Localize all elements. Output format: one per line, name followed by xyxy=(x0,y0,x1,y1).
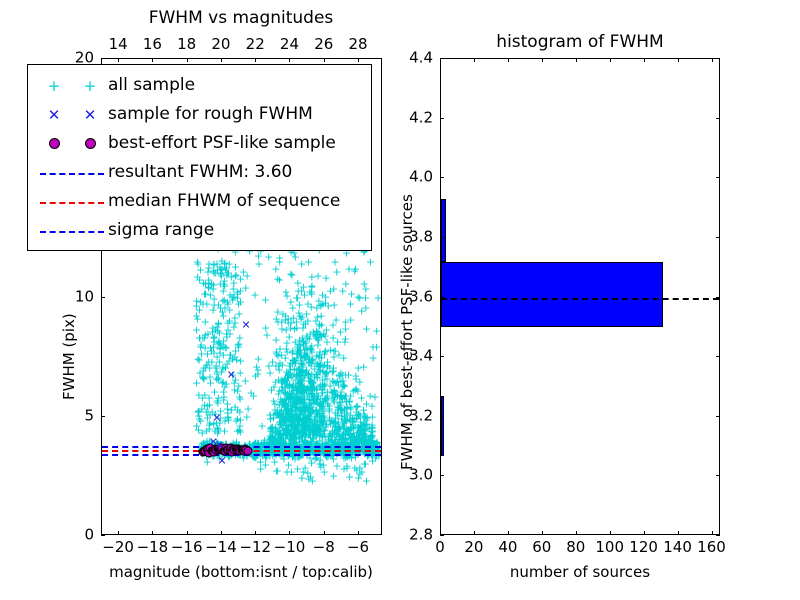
plus-icon: + xyxy=(84,77,97,95)
histogram-top-xtick xyxy=(542,58,543,62)
scatter-point-all-sample: + xyxy=(362,399,371,410)
legend-entry-label: best-effort PSF-like sample xyxy=(108,135,336,152)
scatter-xtick-label: −20 xyxy=(102,540,134,555)
histogram-ytick xyxy=(440,237,444,238)
scatter-point-all-sample: + xyxy=(272,335,281,346)
scatter-xtick-label: −18 xyxy=(137,540,169,555)
scatter-top-xtick xyxy=(187,58,188,62)
scatter-point-all-sample: + xyxy=(297,258,306,269)
scatter-yaxis-label: FWHM (pix) xyxy=(62,313,77,400)
scatter-top-xtick xyxy=(118,58,119,62)
scatter-xtick xyxy=(324,531,325,535)
histogram-xtick-label: 60 xyxy=(532,540,551,555)
scatter-point-all-sample: + xyxy=(229,321,238,332)
scatter-point-all-sample: + xyxy=(299,381,308,392)
histogram-ytick xyxy=(440,118,444,119)
histogram-ytick xyxy=(440,356,444,357)
scatter-ytick-label: 0 xyxy=(84,528,94,543)
histogram-xtick xyxy=(576,531,577,535)
scatter-point-all-sample: + xyxy=(304,430,313,441)
scatter-point-all-sample: + xyxy=(292,293,301,304)
scatter-point-all-sample: + xyxy=(322,272,331,283)
scatter-point-all-sample: + xyxy=(305,286,314,297)
scatter-xtick-label: −12 xyxy=(239,540,271,555)
scatter-point-all-sample: + xyxy=(346,298,355,309)
scatter-point-all-sample: + xyxy=(249,391,258,402)
legend-handle: ++ xyxy=(36,71,108,100)
histogram-axes xyxy=(440,58,720,535)
scatter-top-xtick-label: 26 xyxy=(314,37,333,52)
scatter-point-all-sample: + xyxy=(214,300,223,311)
legend-row: best-effort PSF-like sample xyxy=(36,129,361,158)
histogram-xtick xyxy=(508,531,509,535)
scatter-top-xtick-label: 22 xyxy=(246,37,265,52)
scatter-point-all-sample: + xyxy=(321,393,330,404)
scatter-xtick xyxy=(152,531,153,535)
scatter-point-all-sample: + xyxy=(275,275,284,286)
histogram-ytick-label: 4.0 xyxy=(409,170,433,185)
legend: ++all sample✕✕sample for rough FWHMbest-… xyxy=(27,64,372,251)
scatter-point-all-sample: + xyxy=(329,470,338,481)
scatter-xtick-label: −16 xyxy=(171,540,203,555)
scatter-point-all-sample: + xyxy=(269,381,278,392)
histogram-ytick-right xyxy=(716,237,720,238)
scatter-top-xtick xyxy=(289,58,290,62)
histogram-xaxis-label: number of sources xyxy=(510,565,650,580)
scatter-point-all-sample: + xyxy=(362,415,371,426)
histogram-xtick xyxy=(610,531,611,535)
histogram-ytick xyxy=(440,416,444,417)
scatter-point-all-sample: + xyxy=(283,388,292,399)
legend-row: resultant FWHM: 3.60 xyxy=(36,158,361,187)
histogram-bar xyxy=(441,262,663,328)
histogram-ytick-right xyxy=(716,58,720,59)
legend-entry-label: all sample xyxy=(108,77,195,94)
cross-icon: ✕ xyxy=(84,106,97,124)
scatter-point-all-sample: + xyxy=(264,361,273,372)
histogram-bar xyxy=(441,396,444,456)
scatter-point-all-sample: + xyxy=(314,270,323,281)
scatter-point-all-sample: + xyxy=(347,416,356,427)
scatter-top-xtick-label: 16 xyxy=(143,37,162,52)
scatter-point-all-sample: + xyxy=(202,360,211,371)
histogram-xtick xyxy=(474,531,475,535)
histogram-ytick xyxy=(440,58,444,59)
histogram-xtick-label: 80 xyxy=(566,540,585,555)
scatter-top-xtick-label: 18 xyxy=(177,37,196,52)
legend-row: sigma range xyxy=(36,216,361,245)
histogram-xtick-label: 120 xyxy=(629,540,658,555)
scatter-point-psf-sample xyxy=(243,447,252,456)
scatter-point-all-sample: + xyxy=(256,456,265,467)
scatter-point-all-sample: + xyxy=(330,299,339,310)
scatter-point-all-sample: + xyxy=(199,372,208,383)
scatter-point-all-sample: + xyxy=(298,398,307,409)
legend-handle xyxy=(36,158,108,187)
scatter-point-all-sample: + xyxy=(322,420,331,431)
histogram-bar xyxy=(441,199,446,262)
scatter-top-xtick-label: 24 xyxy=(280,37,299,52)
scatter-point-all-sample: + xyxy=(362,324,371,335)
scatter-point-all-sample: + xyxy=(353,401,362,412)
scatter-point-all-sample: + xyxy=(235,333,244,344)
scatter-point-all-sample: + xyxy=(193,258,202,269)
histogram-xtick xyxy=(712,531,713,535)
scatter-point-all-sample: + xyxy=(209,267,218,278)
scatter-top-xtick xyxy=(152,58,153,62)
scatter-point-all-sample: + xyxy=(346,315,355,326)
dashdot-line-icon xyxy=(40,231,104,233)
scatter-point-all-sample: + xyxy=(273,465,282,476)
scatter-point-all-sample: + xyxy=(284,313,293,324)
histogram-ytick-label: 2.8 xyxy=(409,528,433,543)
histogram-ytick-label: 3.0 xyxy=(409,468,433,483)
scatter-point-all-sample: + xyxy=(306,471,315,482)
scatter-point-all-sample: + xyxy=(282,290,291,301)
scatter-point-all-sample: + xyxy=(272,314,281,325)
scatter-point-all-sample: + xyxy=(340,336,349,347)
scatter-point-all-sample: + xyxy=(194,410,203,421)
histogram-top-xtick xyxy=(474,58,475,62)
scatter-point-all-sample: + xyxy=(272,348,281,359)
cross-icon: ✕ xyxy=(48,106,61,124)
scatter-point-all-sample: + xyxy=(331,422,340,433)
histogram-ytick-label: 3.4 xyxy=(409,349,433,364)
scatter-point-all-sample: + xyxy=(374,292,383,303)
scatter-ytick xyxy=(101,416,105,417)
histogram-top-xtick xyxy=(712,58,713,62)
histogram-ytick-right xyxy=(716,535,720,536)
scatter-point-all-sample: + xyxy=(254,259,263,270)
scatter-point-all-sample: + xyxy=(219,349,228,360)
scatter-point-all-sample: + xyxy=(261,322,270,333)
histogram-ytick xyxy=(440,475,444,476)
histogram-xtick-label: 100 xyxy=(595,540,624,555)
scatter-point-all-sample: + xyxy=(229,284,238,295)
scatter-xtick xyxy=(289,531,290,535)
scatter-point-all-sample: + xyxy=(316,300,325,311)
scatter-point-all-sample: + xyxy=(331,346,340,357)
scatter-point-all-sample: + xyxy=(236,297,245,308)
legend-entry-label: resultant FWHM: 3.60 xyxy=(108,164,292,181)
legend-handle: ✕✕ xyxy=(36,100,108,129)
dashed-line-icon xyxy=(40,173,104,175)
scatter-xtick xyxy=(187,531,188,535)
scatter-point-all-sample: + xyxy=(332,314,341,325)
histogram-xtick xyxy=(542,531,543,535)
scatter-point-all-sample: + xyxy=(286,357,295,368)
scatter-point-all-sample: + xyxy=(359,361,368,372)
scatter-point-all-sample: + xyxy=(192,295,201,306)
scatter-point-all-sample: + xyxy=(351,371,360,382)
scatter-top-xtick xyxy=(255,58,256,62)
scatter-plot-title: FWHM vs magnitudes xyxy=(149,10,334,27)
scatter-point-all-sample: + xyxy=(360,278,369,289)
scatter-point-all-sample: + xyxy=(310,383,319,394)
scatter-point-all-sample: + xyxy=(282,420,291,431)
scatter-point-rough-sample: ✕ xyxy=(241,319,250,330)
legend-entry-label: sample for rough FWHM xyxy=(108,106,313,123)
scatter-point-all-sample: + xyxy=(235,425,244,436)
scatter-top-xtick xyxy=(324,58,325,62)
scatter-point-all-sample: + xyxy=(284,373,293,384)
histogram-ytick-right xyxy=(716,118,720,119)
scatter-point-all-sample: + xyxy=(297,472,306,483)
scatter-point-all-sample: + xyxy=(336,368,345,379)
scatter-point-all-sample: + xyxy=(342,403,351,414)
histogram-ytick-right xyxy=(716,475,720,476)
scatter-point-all-sample: + xyxy=(362,476,371,487)
scatter-point-all-sample: + xyxy=(224,415,233,426)
scatter-point-all-sample: + xyxy=(200,343,209,354)
scatter-point-all-sample: + xyxy=(372,341,381,352)
scatter-point-all-sample: + xyxy=(242,271,251,282)
scatter-ytick-label: 10 xyxy=(75,289,94,304)
histogram-reference-line xyxy=(441,298,719,300)
scatter-point-all-sample: + xyxy=(253,365,262,376)
histogram-top-xtick xyxy=(576,58,577,62)
scatter-point-all-sample: + xyxy=(202,299,211,310)
scatter-point-all-sample: + xyxy=(372,325,381,336)
scatter-xtick xyxy=(255,531,256,535)
histogram-ytick-label: 3.8 xyxy=(409,229,433,244)
scatter-point-all-sample: + xyxy=(316,462,325,473)
scatter-xtick xyxy=(118,531,119,535)
histogram-ytick-label: 4.4 xyxy=(409,51,433,66)
scatter-xtick-label: −14 xyxy=(205,540,237,555)
scatter-point-all-sample: + xyxy=(338,381,347,392)
scatter-point-rough-sample: ✕ xyxy=(215,440,224,451)
scatter-point-all-sample: + xyxy=(302,343,311,354)
scatter-point-all-sample: + xyxy=(261,294,270,305)
scatter-point-all-sample: + xyxy=(366,256,375,267)
scatter-point-all-sample: + xyxy=(290,428,299,439)
scatter-point-all-sample: + xyxy=(369,353,378,364)
scatter-point-all-sample: + xyxy=(215,338,224,349)
legend-row: ++all sample xyxy=(36,71,361,100)
scatter-point-all-sample: + xyxy=(298,359,307,370)
histogram-xtick xyxy=(644,531,645,535)
histogram-xtick xyxy=(678,531,679,535)
histogram-xtick-label: 0 xyxy=(435,540,445,555)
histogram-xtick-label: 140 xyxy=(663,540,692,555)
scatter-xtick-label: −10 xyxy=(274,540,306,555)
scatter-point-all-sample: + xyxy=(298,415,307,426)
scatter-point-all-sample: + xyxy=(214,393,223,404)
histogram-top-xtick xyxy=(610,58,611,62)
legend-row: ✕✕sample for rough FWHM xyxy=(36,100,361,129)
scatter-point-all-sample: + xyxy=(302,309,311,320)
histogram-xtick-label: 160 xyxy=(697,540,726,555)
histogram-ytick xyxy=(440,535,444,536)
legend-entry-label: median FHWM of sequence xyxy=(108,193,340,210)
scatter-ytick xyxy=(101,535,105,536)
histogram-ytick-right xyxy=(716,416,720,417)
circle-icon xyxy=(49,138,60,149)
histogram-top-xtick xyxy=(644,58,645,62)
scatter-xaxis-label: magnitude (bottom:isnt / top:calib) xyxy=(109,565,373,580)
histogram-xtick-label: 40 xyxy=(498,540,517,555)
legend-row: median FHWM of sequence xyxy=(36,187,361,216)
scatter-xtick xyxy=(221,531,222,535)
scatter-point-all-sample: + xyxy=(231,345,240,356)
scatter-top-xtick xyxy=(221,58,222,62)
scatter-point-all-sample: + xyxy=(330,257,339,268)
scatter-top-xtick-label: 28 xyxy=(348,37,367,52)
scatter-point-all-sample: + xyxy=(338,286,347,297)
histogram-xtick-label: 20 xyxy=(464,540,483,555)
legend-handle xyxy=(36,187,108,216)
histogram-ytick-right xyxy=(716,177,720,178)
scatter-point-all-sample: + xyxy=(315,320,324,331)
scatter-point-all-sample: + xyxy=(241,283,250,294)
scatter-ytick-label: 5 xyxy=(84,408,94,423)
scatter-top-xtick-label: 20 xyxy=(211,37,230,52)
scatter-point-rough-sample: ✕ xyxy=(227,370,236,381)
histogram-top-xtick xyxy=(508,58,509,62)
legend-entry-label: sigma range xyxy=(108,222,214,239)
dashed-line-icon xyxy=(40,202,104,204)
histogram-ytick-right xyxy=(716,356,720,357)
histogram-ytick-label: 3.2 xyxy=(409,408,433,423)
figure-canvas: ++++++++++++++++++++++++++++++++++++++++… xyxy=(0,0,800,600)
scatter-point-rough-sample: ✕ xyxy=(217,455,226,466)
scatter-point-all-sample: + xyxy=(357,306,366,317)
legend-handle xyxy=(36,216,108,245)
scatter-point-all-sample: + xyxy=(242,411,251,422)
scatter-xtick xyxy=(358,531,359,535)
scatter-point-all-sample: + xyxy=(352,465,361,476)
scatter-top-xtick-label: 14 xyxy=(109,37,128,52)
scatter-xtick-label: −8 xyxy=(313,540,335,555)
plus-icon: + xyxy=(48,77,61,95)
scatter-point-all-sample: + xyxy=(271,263,280,274)
scatter-point-all-sample: + xyxy=(194,390,203,401)
scatter-point-all-sample: + xyxy=(326,285,335,296)
legend-handle xyxy=(36,129,108,158)
scatter-point-all-sample: + xyxy=(257,421,266,432)
histogram-ytick-label: 3.6 xyxy=(409,289,433,304)
scatter-point-rough-sample: ✕ xyxy=(212,412,221,423)
scatter-point-all-sample: + xyxy=(316,367,325,378)
scatter-ytick xyxy=(101,297,105,298)
scatter-point-all-sample: + xyxy=(273,404,282,415)
histogram-top-xtick xyxy=(678,58,679,62)
scatter-point-all-sample: + xyxy=(350,266,359,277)
scatter-point-all-sample: + xyxy=(264,251,273,262)
histogram-ytick-label: 4.2 xyxy=(409,110,433,125)
scatter-top-xtick xyxy=(358,58,359,62)
histogram-ytick xyxy=(440,297,444,298)
scatter-xtick-label: −6 xyxy=(347,540,369,555)
scatter-point-all-sample: + xyxy=(212,366,221,377)
scatter-point-all-sample: + xyxy=(321,331,330,342)
scatter-ytick xyxy=(101,58,105,59)
histogram-ytick xyxy=(440,177,444,178)
histogram-title: histogram of FWHM xyxy=(496,34,663,51)
scatter-point-all-sample: + xyxy=(342,460,351,471)
scatter-point-all-sample: + xyxy=(284,460,293,471)
circle-icon xyxy=(85,138,96,149)
scatter-point-all-sample: + xyxy=(287,270,296,281)
scatter-point-all-sample: + xyxy=(250,289,259,300)
histogram-ytick-right xyxy=(716,297,720,298)
scatter-point-all-sample: + xyxy=(241,376,250,387)
